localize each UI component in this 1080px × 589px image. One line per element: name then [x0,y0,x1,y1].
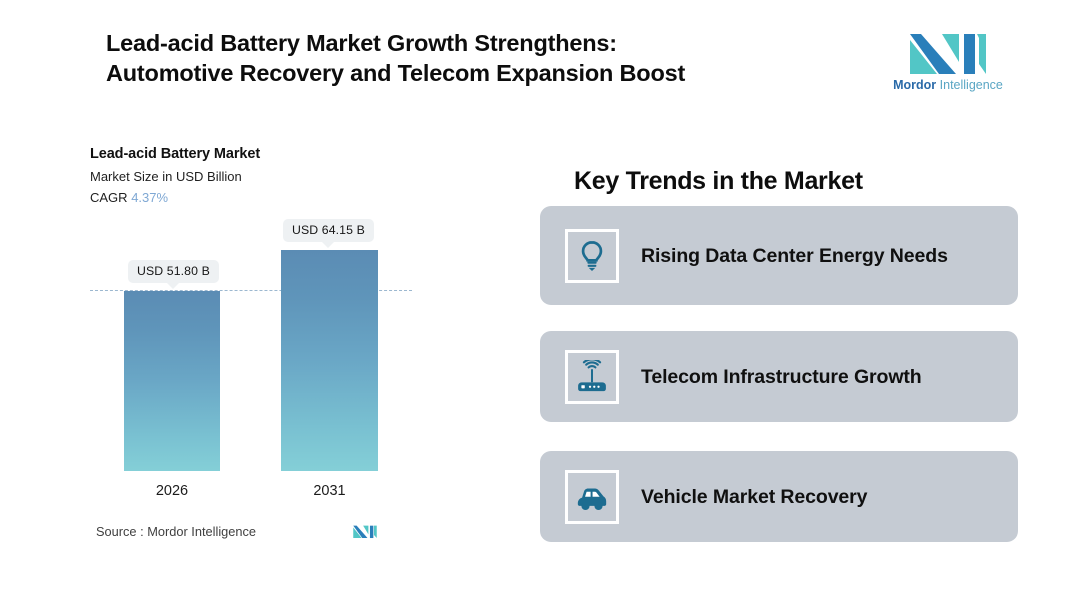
page-title: Lead-acid Battery Market Growth Strength… [106,28,806,88]
page-title-line-1: Lead-acid Battery Market Growth Strength… [106,28,806,58]
trend-card-telecom-infrastructure-growth[interactable]: Telecom Infrastructure Growth [540,331,1018,422]
trend-card-vehicle-market-recovery[interactable]: Vehicle Market Recovery [540,451,1018,542]
mordor-intelligence-mark-small-icon [348,521,382,539]
mordor-intelligence-mark-icon [893,22,1003,74]
chart-cagr-label: CAGR [90,190,128,205]
chart-source-text: Source : Mordor Intelligence [96,524,256,539]
wireless-router-icon [575,360,609,394]
chart-cagr: CAGR 4.37% [90,190,470,205]
bar-2031 [281,250,378,471]
brand-wordmark-bold: Mordor [893,78,936,92]
chart-cagr-value: 4.37% [131,190,168,205]
brand-wordmark-light: Intelligence [940,78,1003,92]
trend-icon-box [565,350,619,404]
trend-icon-box [565,229,619,283]
trend-card-label: Vehicle Market Recovery [641,484,881,510]
chart-plot-area: USD 51.80 B USD 64.15 B 2026 2031 [90,231,420,499]
bar-2026 [124,291,220,471]
trend-card-rising-data-center-energy-needs[interactable]: Rising Data Center Energy Needs [540,206,1018,305]
lightbulb-icon [575,239,609,273]
key-trends-heading: Key Trends in the Market [574,166,1018,196]
trend-icon-box [565,470,619,524]
market-size-chart: Lead-acid Battery Market Market Size in … [90,146,470,546]
mordor-intelligence-logo: Mordor Intelligence [893,22,1003,94]
bar-value-label-2031: USD 64.15 B [283,219,374,242]
trend-card-label: Rising Data Center Energy Needs [641,243,995,269]
trend-card-label: Telecom Infrastructure Growth [641,364,936,390]
x-axis-tick-2031: 2031 [281,483,378,499]
car-icon [575,480,609,514]
page-title-line-2: Automotive Recovery and Telecom Expansio… [106,58,806,88]
chart-title: Lead-acid Battery Market [90,146,470,162]
x-axis-tick-2026: 2026 [124,483,220,499]
chart-subtitle: Market Size in USD Billion [90,169,470,184]
key-trends-panel: Key Trends in the Market Rising Data Cen… [540,166,1018,196]
bar-value-label-2026: USD 51.80 B [128,260,219,283]
brand-wordmark: Mordor Intelligence [893,78,1003,92]
